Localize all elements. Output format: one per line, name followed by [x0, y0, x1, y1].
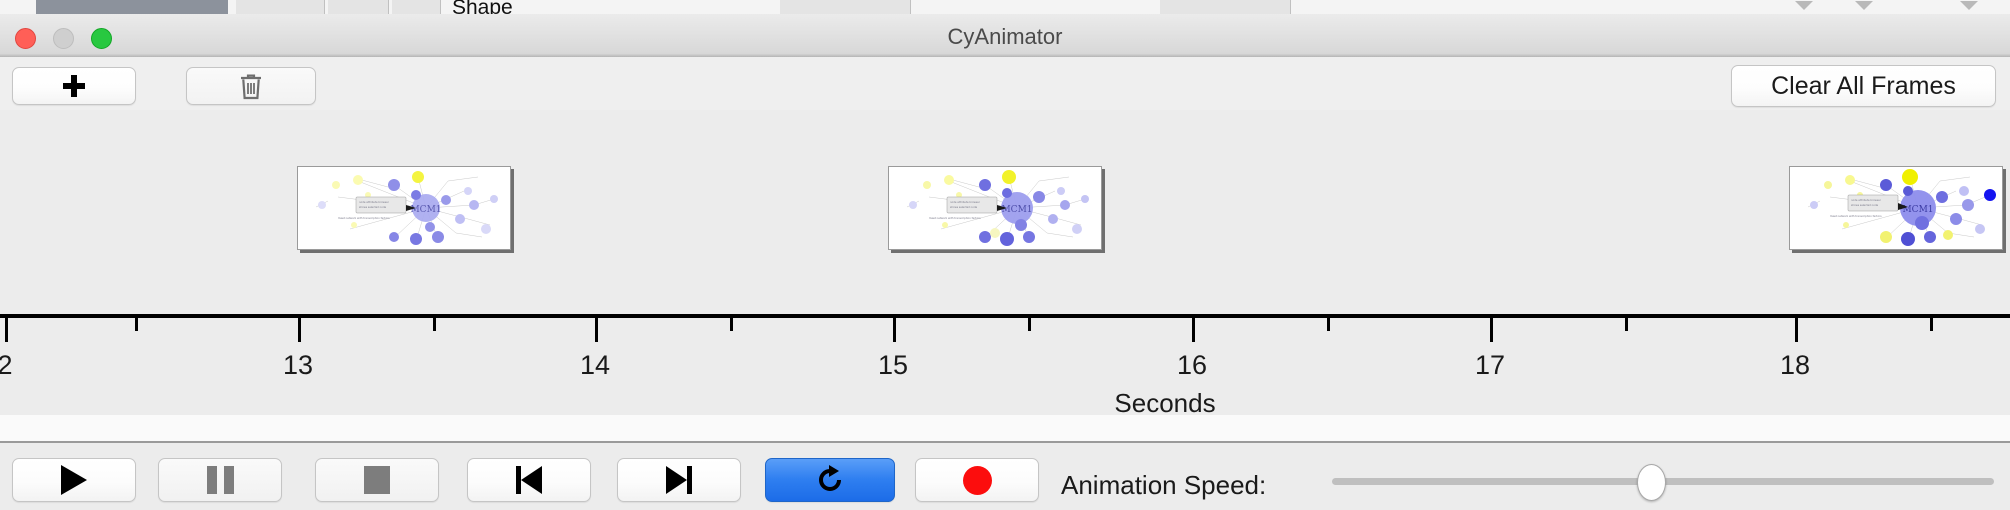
svg-text:MCM1: MCM1 [1001, 205, 1032, 215]
clear-all-frames-button[interactable]: Clear All Frames [1731, 65, 1996, 107]
axis-tick-major [5, 318, 8, 342]
svg-text:node attribute browser: node attribute browser [359, 200, 390, 204]
axis-tick-major [893, 318, 896, 342]
next-frame-button[interactable] [617, 458, 741, 502]
cyanimator-window: Shape CyAnimator Clear All Frames [0, 0, 2010, 510]
pause-button[interactable] [158, 458, 282, 502]
axis-tick-minor [1028, 318, 1031, 331]
previous-frame-button[interactable] [467, 458, 591, 502]
loop-button[interactable] [765, 458, 895, 502]
axis-tick-label: 14 [580, 350, 610, 381]
axis-tick-label: 15 [878, 350, 908, 381]
svg-text:MCM1: MCM1 [410, 205, 441, 215]
add-frame-button[interactable] [12, 67, 136, 105]
record-icon [963, 466, 992, 495]
plus-icon [63, 75, 85, 97]
background-window-chip [780, 0, 911, 14]
svg-text:node attribute browser: node attribute browser [1851, 198, 1882, 202]
network-thumbnail-graphic: MCM1 [1790, 167, 2002, 249]
play-button[interactable] [12, 458, 136, 502]
svg-text:Yeast network with transcripti: Yeast network with transcription factors [929, 216, 981, 220]
timeline-panel[interactable]: MCM1 [0, 110, 2010, 415]
frame-thumbnail-1[interactable]: MCM1 [297, 166, 511, 250]
background-window-chip [392, 0, 441, 14]
background-window-dark-bar [36, 0, 228, 14]
background-window-chip [1160, 0, 1291, 14]
axis-tick-label: 2 [0, 350, 13, 381]
playback-toolbar: Animation Speed: [0, 443, 2010, 510]
stop-button[interactable] [315, 458, 439, 502]
svg-text:shows selected node: shows selected node [1851, 203, 1879, 207]
axis-tick-minor [1625, 318, 1628, 331]
axis-tick-minor [135, 318, 138, 331]
axis-tick-minor [730, 318, 733, 331]
loop-icon [814, 464, 846, 496]
axis-tick-minor [1930, 318, 1933, 331]
axis-tick-major [1192, 318, 1195, 342]
svg-text:MCM1: MCM1 [1902, 205, 1933, 215]
record-button[interactable] [915, 458, 1039, 502]
axis-tick-major [1795, 318, 1798, 342]
timeline-axis [0, 314, 2010, 318]
horizontal-scrollbar[interactable] [0, 415, 2010, 443]
animation-speed-label: Animation Speed: [1061, 470, 1266, 501]
axis-tick-label: 17 [1475, 350, 1505, 381]
axis-tick-minor [1327, 318, 1330, 331]
background-triangle-icon [1960, 1, 1978, 10]
frame-thumbnail-3[interactable]: MCM1 [1789, 166, 2003, 250]
background-window-chip [328, 0, 389, 14]
skip-back-icon [516, 466, 542, 494]
axis-tick-major [595, 318, 598, 342]
animation-speed-slider-thumb[interactable] [1637, 464, 1666, 501]
svg-text:node attribute browser: node attribute browser [950, 200, 981, 204]
svg-text:shows selected node: shows selected node [359, 205, 387, 209]
trash-icon [239, 73, 263, 100]
background-window-chip [236, 0, 325, 14]
toolbar: Clear All Frames [0, 57, 2010, 111]
delete-frame-button[interactable] [186, 67, 316, 105]
axis-tick-label: 18 [1780, 350, 1810, 381]
network-thumbnail-graphic: MCM1 [889, 167, 1101, 249]
axis-tick-major [1490, 318, 1493, 342]
background-window-label: Shape [452, 0, 513, 14]
skip-forward-icon [666, 466, 692, 494]
svg-text:shows selected node: shows selected node [950, 205, 978, 209]
title-bar: CyAnimator [0, 14, 2010, 58]
stop-icon [364, 466, 390, 494]
axis-tick-label: 16 [1177, 350, 1207, 381]
window-title: CyAnimator [0, 24, 2010, 50]
axis-tick-major [298, 318, 301, 342]
axis-tick-minor [433, 318, 436, 331]
svg-text:Yeast network with transcripti: Yeast network with transcription factors [338, 216, 390, 220]
svg-text:Yeast network with transcripti: Yeast network with transcription factors [1830, 214, 1882, 218]
play-icon [61, 465, 87, 495]
frame-thumbnail-2[interactable]: MCM1 [888, 166, 1102, 250]
background-triangle-icon [1855, 1, 1873, 10]
network-thumbnail-graphic: MCM1 [298, 167, 510, 249]
background-window-strip: Shape [0, 0, 2010, 14]
pause-icon [207, 466, 234, 494]
background-triangle-icon [1795, 1, 1813, 10]
axis-tick-label: 13 [283, 350, 313, 381]
